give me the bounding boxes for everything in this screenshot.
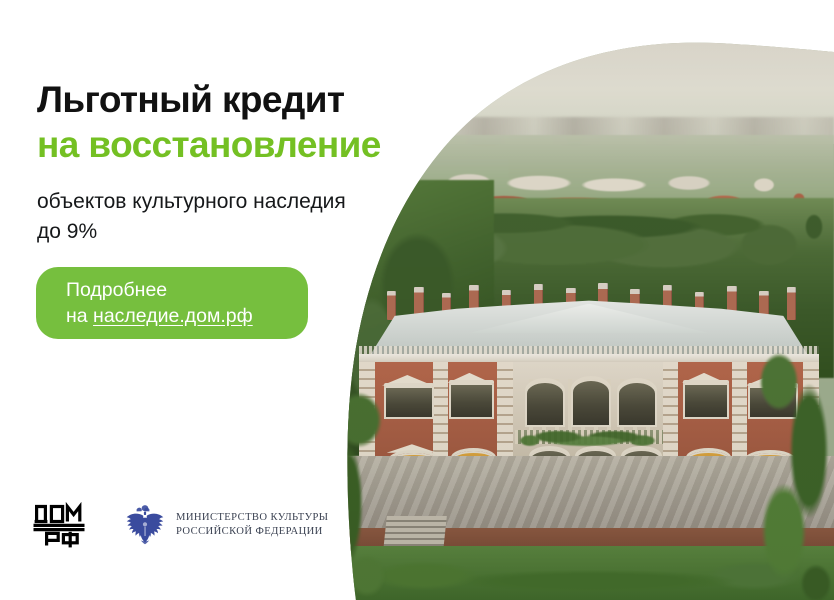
photo-right-trees [744,330,834,600]
ministry-name: Министерство культуры Российской Федерац… [176,511,328,539]
dom-rf-logo [32,500,86,550]
logo-row: Министерство культуры Российской Федерац… [32,500,328,550]
ministry-line-1: Министерство культуры [176,511,328,525]
cta-url: наследие.дом.рф [93,305,253,327]
cta-url-line: на наследие.дом.рф [66,303,308,329]
learn-more-button[interactable]: Подробнее на наследие.дом.рф [36,267,308,339]
headline-line-2: на восстановление [37,122,417,167]
subtitle-line-1: объектов культурного [37,190,247,213]
ministry-line-2: Российской Федерации [176,525,328,539]
russian-coat-of-arms-icon [124,503,166,547]
promo-banner: Льготный кредит на восстановление объект… [0,0,834,600]
cta-url-prefix: на [66,305,93,327]
page-title: Льготный кредит на восстановление [37,77,417,167]
photo-balcony-greenery [511,425,667,450]
headline-line-1: Льготный кредит [37,79,344,120]
subtitle: объектов культурного наследия до 9% [37,187,367,247]
cta-label: Подробнее [66,277,308,303]
ministry-of-culture-logo: Министерство культуры Российской Федерац… [124,503,328,547]
content-panel: Льготный кредит на восстановление объект… [0,0,420,600]
